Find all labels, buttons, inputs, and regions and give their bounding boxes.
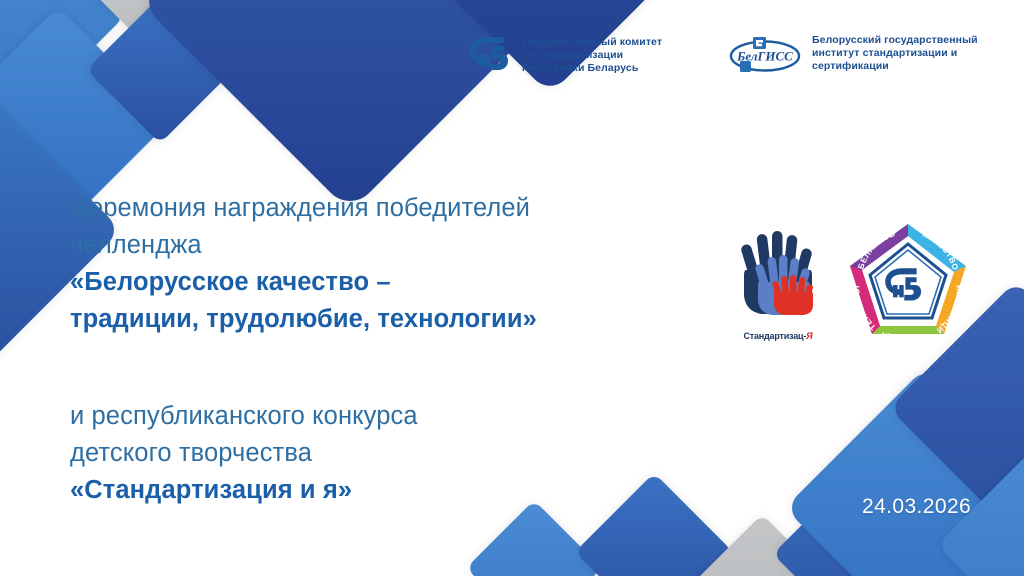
svg-text:БелГИСС: БелГИСС bbox=[736, 49, 793, 64]
title-block-primary: Церемония награждения победителей челлен… bbox=[70, 190, 670, 338]
header-logo-bar: Государственный комитет по стандартизаци… bbox=[0, 30, 1024, 100]
diamond-date bbox=[785, 367, 1024, 576]
hand-logo-caption-text: Стандартизац- bbox=[743, 331, 806, 341]
logo-belgiss-text: Белорусский государственный институт ста… bbox=[812, 32, 978, 74]
gosstandart-pentagon-logo: БЕЛАРУСЬ КАЧЕСТВО ИННОВАЦИИ ТРАДИЦИИ ТЕХ… bbox=[846, 222, 970, 348]
title-line-4: традиции, трудолюбие, технологии» bbox=[70, 301, 670, 338]
title-line-2: челленджа bbox=[70, 227, 670, 264]
presentation-slide: Государственный комитет по стандартизаци… bbox=[0, 0, 1024, 576]
title-block-secondary: и республиканского конкурса детского тво… bbox=[70, 398, 670, 509]
title-line-1: Церемония награждения победителей bbox=[70, 190, 670, 227]
hand-logo-caption-accent: Я bbox=[806, 331, 812, 341]
diamond-bottom-a bbox=[466, 500, 602, 576]
subtitle-line-1: и республиканского конкурса bbox=[70, 398, 670, 435]
logo-gosstandart: Государственный комитет по стандартизаци… bbox=[468, 34, 662, 79]
diamond-bottom-gray bbox=[694, 514, 830, 576]
diamond-bottom-c bbox=[773, 475, 931, 576]
belgiss-emblem-icon: БелГИСС bbox=[728, 32, 802, 81]
subtitle-line-3: «Стандартизация и я» bbox=[70, 472, 670, 509]
title-line-3: «Белорусское качество – bbox=[70, 264, 670, 301]
logo-gosstandart-text: Государственный комитет по стандартизаци… bbox=[522, 34, 662, 76]
logo-belgiss: БелГИСС Белорусский государственный инст… bbox=[728, 32, 978, 81]
standartizac-ya-hands-logo: Стандартизац-Я bbox=[718, 226, 838, 341]
event-date: 24.03.2026 bbox=[862, 495, 971, 519]
hand-logo-caption: Стандартизац-Я bbox=[718, 331, 838, 341]
gosstandart-emblem-icon bbox=[468, 34, 512, 79]
subtitle-line-2: детского творчества bbox=[70, 435, 670, 472]
